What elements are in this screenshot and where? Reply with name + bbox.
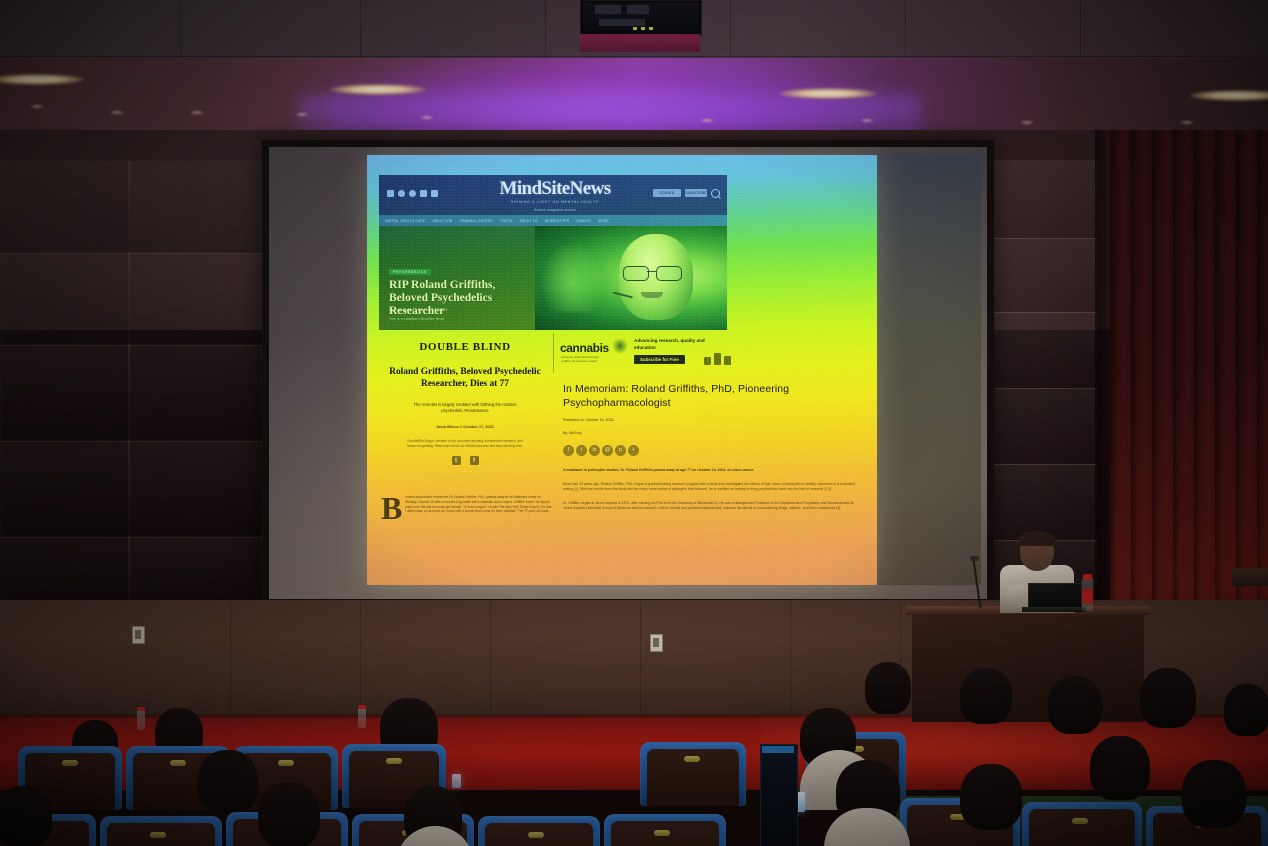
- hand-silhouette: [541, 240, 603, 312]
- display-stand: [760, 744, 798, 846]
- laptop-base: [1022, 607, 1086, 612]
- facebook-icon[interactable]: [398, 190, 405, 197]
- in-memoriam-paragraph: Dr. Griffiths began at Johns Hopkins in …: [563, 501, 863, 511]
- audience-head: [258, 782, 320, 846]
- drop-cap: B: [381, 495, 402, 521]
- facebook-icon[interactable]: f: [470, 456, 479, 465]
- water-bottle: [137, 710, 145, 730]
- audience-head: [1048, 676, 1102, 734]
- doubleblind-body: B eloved psychedelic researcher Dr. Rola…: [381, 495, 553, 521]
- cannabis-ad-banner[interactable]: cannabis science and technology a MJH Li…: [553, 333, 728, 373]
- audience-head: [960, 764, 1022, 830]
- instagram-icon[interactable]: [420, 190, 427, 197]
- audience-head: [1182, 760, 1246, 828]
- doubleblind-dek: The scientist is largely credited with b…: [381, 402, 549, 414]
- nav-item[interactable]: ADDICTION: [432, 219, 452, 223]
- audience-area: [0, 690, 1268, 846]
- ad-brand-sub2: a MJH Life Sciences brand: [561, 360, 597, 363]
- ad-brand-sub: science and technology: [561, 355, 599, 359]
- hero-article[interactable]: PSYCHEDELICS RIP Roland Griffiths, Belov…: [379, 226, 727, 330]
- subscribe-free-button[interactable]: Subscribe for Free: [634, 355, 685, 364]
- twitter-icon[interactable]: [409, 190, 416, 197]
- ad-illustration: [704, 353, 731, 365]
- seat: [604, 814, 726, 846]
- seat: [640, 742, 746, 806]
- bottle-label: [1082, 589, 1093, 603]
- nav-item[interactable]: MORE: [598, 219, 609, 223]
- hero-byline: By Rob Waters / October 17, 2023: [389, 308, 447, 312]
- audience-head: [865, 662, 911, 714]
- nav-item[interactable]: MENTAL HEALTH CARE: [385, 219, 425, 223]
- site-header: MindSiteNews SHINING A LIGHT ON MENTAL H…: [379, 175, 727, 215]
- doubleblind-headline[interactable]: Roland Griffiths, Beloved Psychedelic Re…: [381, 366, 549, 390]
- nav-item[interactable]: ABOUT US: [519, 219, 537, 223]
- booth-skirt: [580, 34, 700, 52]
- email-icon[interactable]: @: [602, 445, 613, 456]
- nav-item[interactable]: YOUTH: [500, 219, 513, 223]
- audience-head: [0, 786, 52, 846]
- twitter-icon[interactable]: t: [452, 456, 461, 465]
- more-icon[interactable]: +: [628, 445, 639, 456]
- ceiling-light: [780, 88, 876, 99]
- audience-head: [1224, 684, 1268, 736]
- side-table: [1232, 568, 1268, 586]
- glasses-icon: [623, 266, 691, 279]
- audience-head: [1140, 668, 1196, 728]
- audience-head: [198, 750, 258, 814]
- site-navigation[interactable]: MENTAL HEALTH CARE ADDICTION CRIMINAL JU…: [379, 215, 727, 226]
- menu-icon[interactable]: [387, 190, 394, 197]
- in-memoriam-headline[interactable]: In Memoriam: Roland Griffiths, PhD, Pion…: [563, 383, 863, 410]
- site-tagline: SHINING A LIGHT ON MENTAL HEALTH: [465, 200, 645, 204]
- ceiling-light: [330, 84, 426, 95]
- seat: [100, 816, 222, 846]
- ad-brand: cannabis: [560, 341, 609, 355]
- audience-person: [824, 808, 910, 846]
- portrait-face: [605, 232, 709, 330]
- microphone-icon: [970, 556, 979, 561]
- nav-item[interactable]: DONATE: [576, 219, 591, 223]
- nav-item[interactable]: CRIMINAL JUSTICE: [459, 219, 493, 223]
- in-memoriam-author: By: McEvoy: [563, 431, 863, 436]
- category-badge[interactable]: PSYCHEDELICS: [389, 269, 431, 275]
- projection-screen: MindSiteNews SHINING A LIGHT ON MENTAL H…: [262, 140, 994, 606]
- audience-phone: [452, 774, 461, 788]
- hero-headline[interactable]: RIP Roland Griffiths, Beloved Psychedeli…: [389, 279, 529, 318]
- seat: [1022, 802, 1142, 846]
- hero-portrait-image: [535, 226, 727, 330]
- doubleblind-share[interactable]: t f: [381, 456, 549, 465]
- auditorium-scene: MindSiteNews SHINING A LIGHT ON MENTAL H…: [0, 0, 1268, 846]
- print-icon[interactable]: p: [615, 445, 626, 456]
- donate-button[interactable]: DONATE: [653, 189, 681, 197]
- in-memoriam-lead: A trailblazer in psilocybin studies, Dr.…: [563, 468, 863, 473]
- hero-tagline: This is a Landmark MindSite News: [389, 317, 444, 321]
- water-bottle: [358, 708, 366, 728]
- doubleblind-body-text: eloved psychedelic researcher Dr. Roland…: [405, 495, 551, 513]
- in-memoriam-published: Published on: October 18, 2023: [563, 418, 863, 423]
- facebook-icon[interactable]: f: [563, 445, 574, 456]
- search-icon[interactable]: [711, 189, 720, 198]
- projected-slide: MindSiteNews SHINING A LIGHT ON MENTAL H…: [367, 155, 877, 585]
- subscribe-button[interactable]: SUBSCRIBE: [685, 189, 707, 197]
- site-search-prompt[interactable]: Search magazine stories: [465, 208, 645, 212]
- news-website: MindSiteNews SHINING A LIGHT ON MENTAL H…: [367, 155, 877, 585]
- twitter-icon[interactable]: t: [576, 445, 587, 456]
- linkedin-icon[interactable]: in: [589, 445, 600, 456]
- doubleblind-masthead: DOUBLE BLIND: [381, 341, 549, 353]
- in-memoriam-share[interactable]: f t in @ p +: [563, 445, 863, 456]
- linkedin-icon[interactable]: [431, 190, 438, 197]
- audience-head: [960, 668, 1012, 724]
- cannabis-leaf-icon: [612, 338, 628, 354]
- hero-text-panel: PSYCHEDELICS RIP Roland Griffiths, Belov…: [379, 226, 535, 330]
- doubleblind-disclaimer: DoubleBlind Mag is devoted to fair, accu…: [381, 439, 549, 448]
- nav-item[interactable]: NEWSLETTER: [545, 219, 570, 223]
- header-social-icons[interactable]: [387, 190, 438, 197]
- doubleblind-article: DOUBLE BLIND Roland Griffiths, Beloved P…: [381, 341, 549, 465]
- wall-outlet: [132, 626, 145, 644]
- ad-tagline: Advancing research, quality and educatio…: [634, 338, 720, 351]
- in-memoriam-paragraph: More than 24 years ago, Roland Griffiths…: [563, 482, 863, 492]
- display-stand-screen: [762, 746, 794, 753]
- bottle-cap: [1083, 574, 1092, 580]
- in-memoriam-article: In Memoriam: Roland Griffiths, PhD, Pion…: [563, 383, 863, 512]
- doubleblind-byline: Anna Wilcox // October 17, 2023: [381, 425, 549, 429]
- site-logo-text: MindSiteNews: [465, 179, 645, 198]
- screen-dim-area: [877, 155, 981, 585]
- seat: [478, 816, 600, 846]
- projection-booth: [580, 0, 702, 36]
- site-logo[interactable]: MindSiteNews SHINING A LIGHT ON MENTAL H…: [465, 179, 645, 212]
- audience-head: [1090, 736, 1150, 800]
- wall-outlet: [650, 634, 663, 652]
